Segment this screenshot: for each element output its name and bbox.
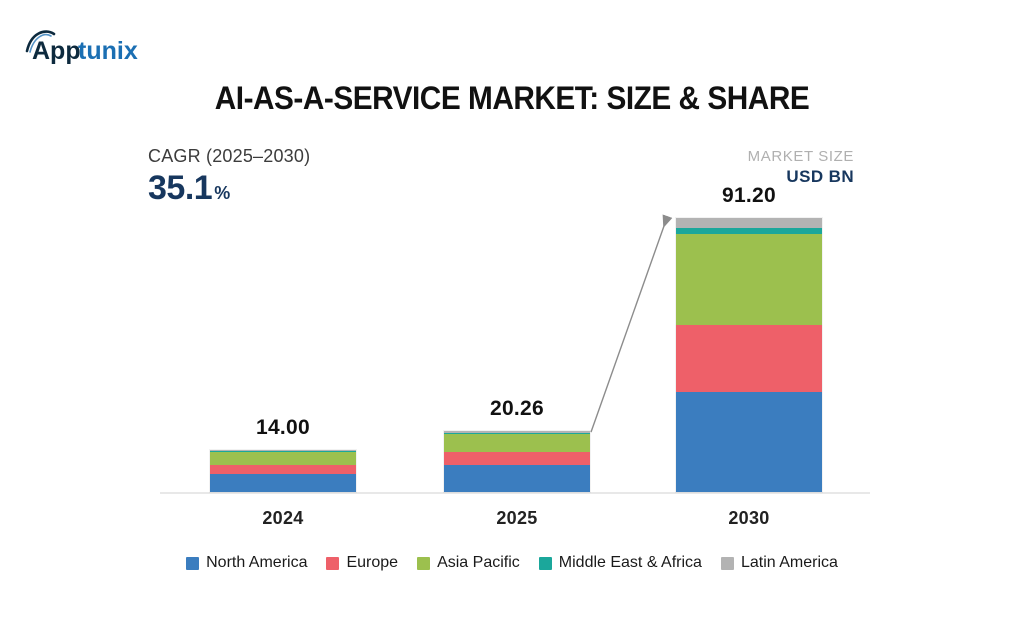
x-axis-line bbox=[160, 492, 870, 494]
bar-value-label-2024: 14.00 bbox=[210, 416, 356, 440]
x-tick-2025: 2025 bbox=[444, 508, 590, 529]
legend-label: North America bbox=[206, 554, 307, 572]
chart-legend: North AmericaEuropeAsia PacificMiddle Ea… bbox=[0, 554, 1024, 572]
legend-label: Asia Pacific bbox=[437, 554, 520, 572]
bar-segment-2030-middle-east-africa bbox=[676, 228, 822, 234]
bar-segment-2030-asia-pacific bbox=[676, 234, 822, 325]
bar-segment-2030-north-america bbox=[676, 392, 822, 492]
x-tick-2024: 2024 bbox=[210, 508, 356, 529]
legend-swatch-icon bbox=[417, 557, 430, 570]
bar-value-label-2025: 20.26 bbox=[444, 397, 590, 421]
bar-segment-2024-north-america bbox=[210, 474, 356, 492]
legend-item-asia-pacific[interactable]: Asia Pacific bbox=[417, 554, 520, 572]
bar-segment-2030-latin-america bbox=[676, 218, 822, 228]
legend-swatch-icon bbox=[326, 557, 339, 570]
plot-area: 14.0020.2691.20 202420252030 bbox=[0, 0, 1024, 638]
legend-item-latin-america[interactable]: Latin America bbox=[721, 554, 838, 572]
bar-segment-2024-latin-america bbox=[210, 450, 356, 451]
legend-item-north-america[interactable]: North America bbox=[186, 554, 307, 572]
bar-2024 bbox=[210, 450, 356, 492]
growth-arrow-annotation bbox=[0, 0, 1024, 638]
bar-segment-2025-latin-america bbox=[444, 431, 590, 433]
legend-label: Middle East & Africa bbox=[559, 554, 702, 572]
bar-segment-2025-middle-east-africa bbox=[444, 433, 590, 435]
bar-segment-2024-middle-east-africa bbox=[210, 451, 356, 452]
bar-segment-2025-europe bbox=[444, 452, 590, 465]
legend-label: Europe bbox=[346, 554, 398, 572]
legend-swatch-icon bbox=[539, 557, 552, 570]
bar-segment-2025-north-america bbox=[444, 465, 590, 492]
bar-2030 bbox=[676, 218, 822, 492]
bar-segment-2030-europe bbox=[676, 325, 822, 392]
bar-segment-2024-asia-pacific bbox=[210, 452, 356, 464]
legend-swatch-icon bbox=[721, 557, 734, 570]
legend-label: Latin America bbox=[741, 554, 838, 572]
bar-2025 bbox=[444, 431, 590, 492]
legend-item-europe[interactable]: Europe bbox=[326, 554, 398, 572]
legend-swatch-icon bbox=[186, 557, 199, 570]
legend-item-middle-east-africa[interactable]: Middle East & Africa bbox=[539, 554, 702, 572]
bar-value-label-2030: 91.20 bbox=[676, 184, 822, 208]
bar-segment-2024-europe bbox=[210, 465, 356, 474]
bar-segment-2025-asia-pacific bbox=[444, 434, 590, 452]
x-tick-2030: 2030 bbox=[676, 508, 822, 529]
chart-canvas: App tunix AI-AS-A-SERVICE MARKET: SIZE &… bbox=[0, 0, 1024, 638]
